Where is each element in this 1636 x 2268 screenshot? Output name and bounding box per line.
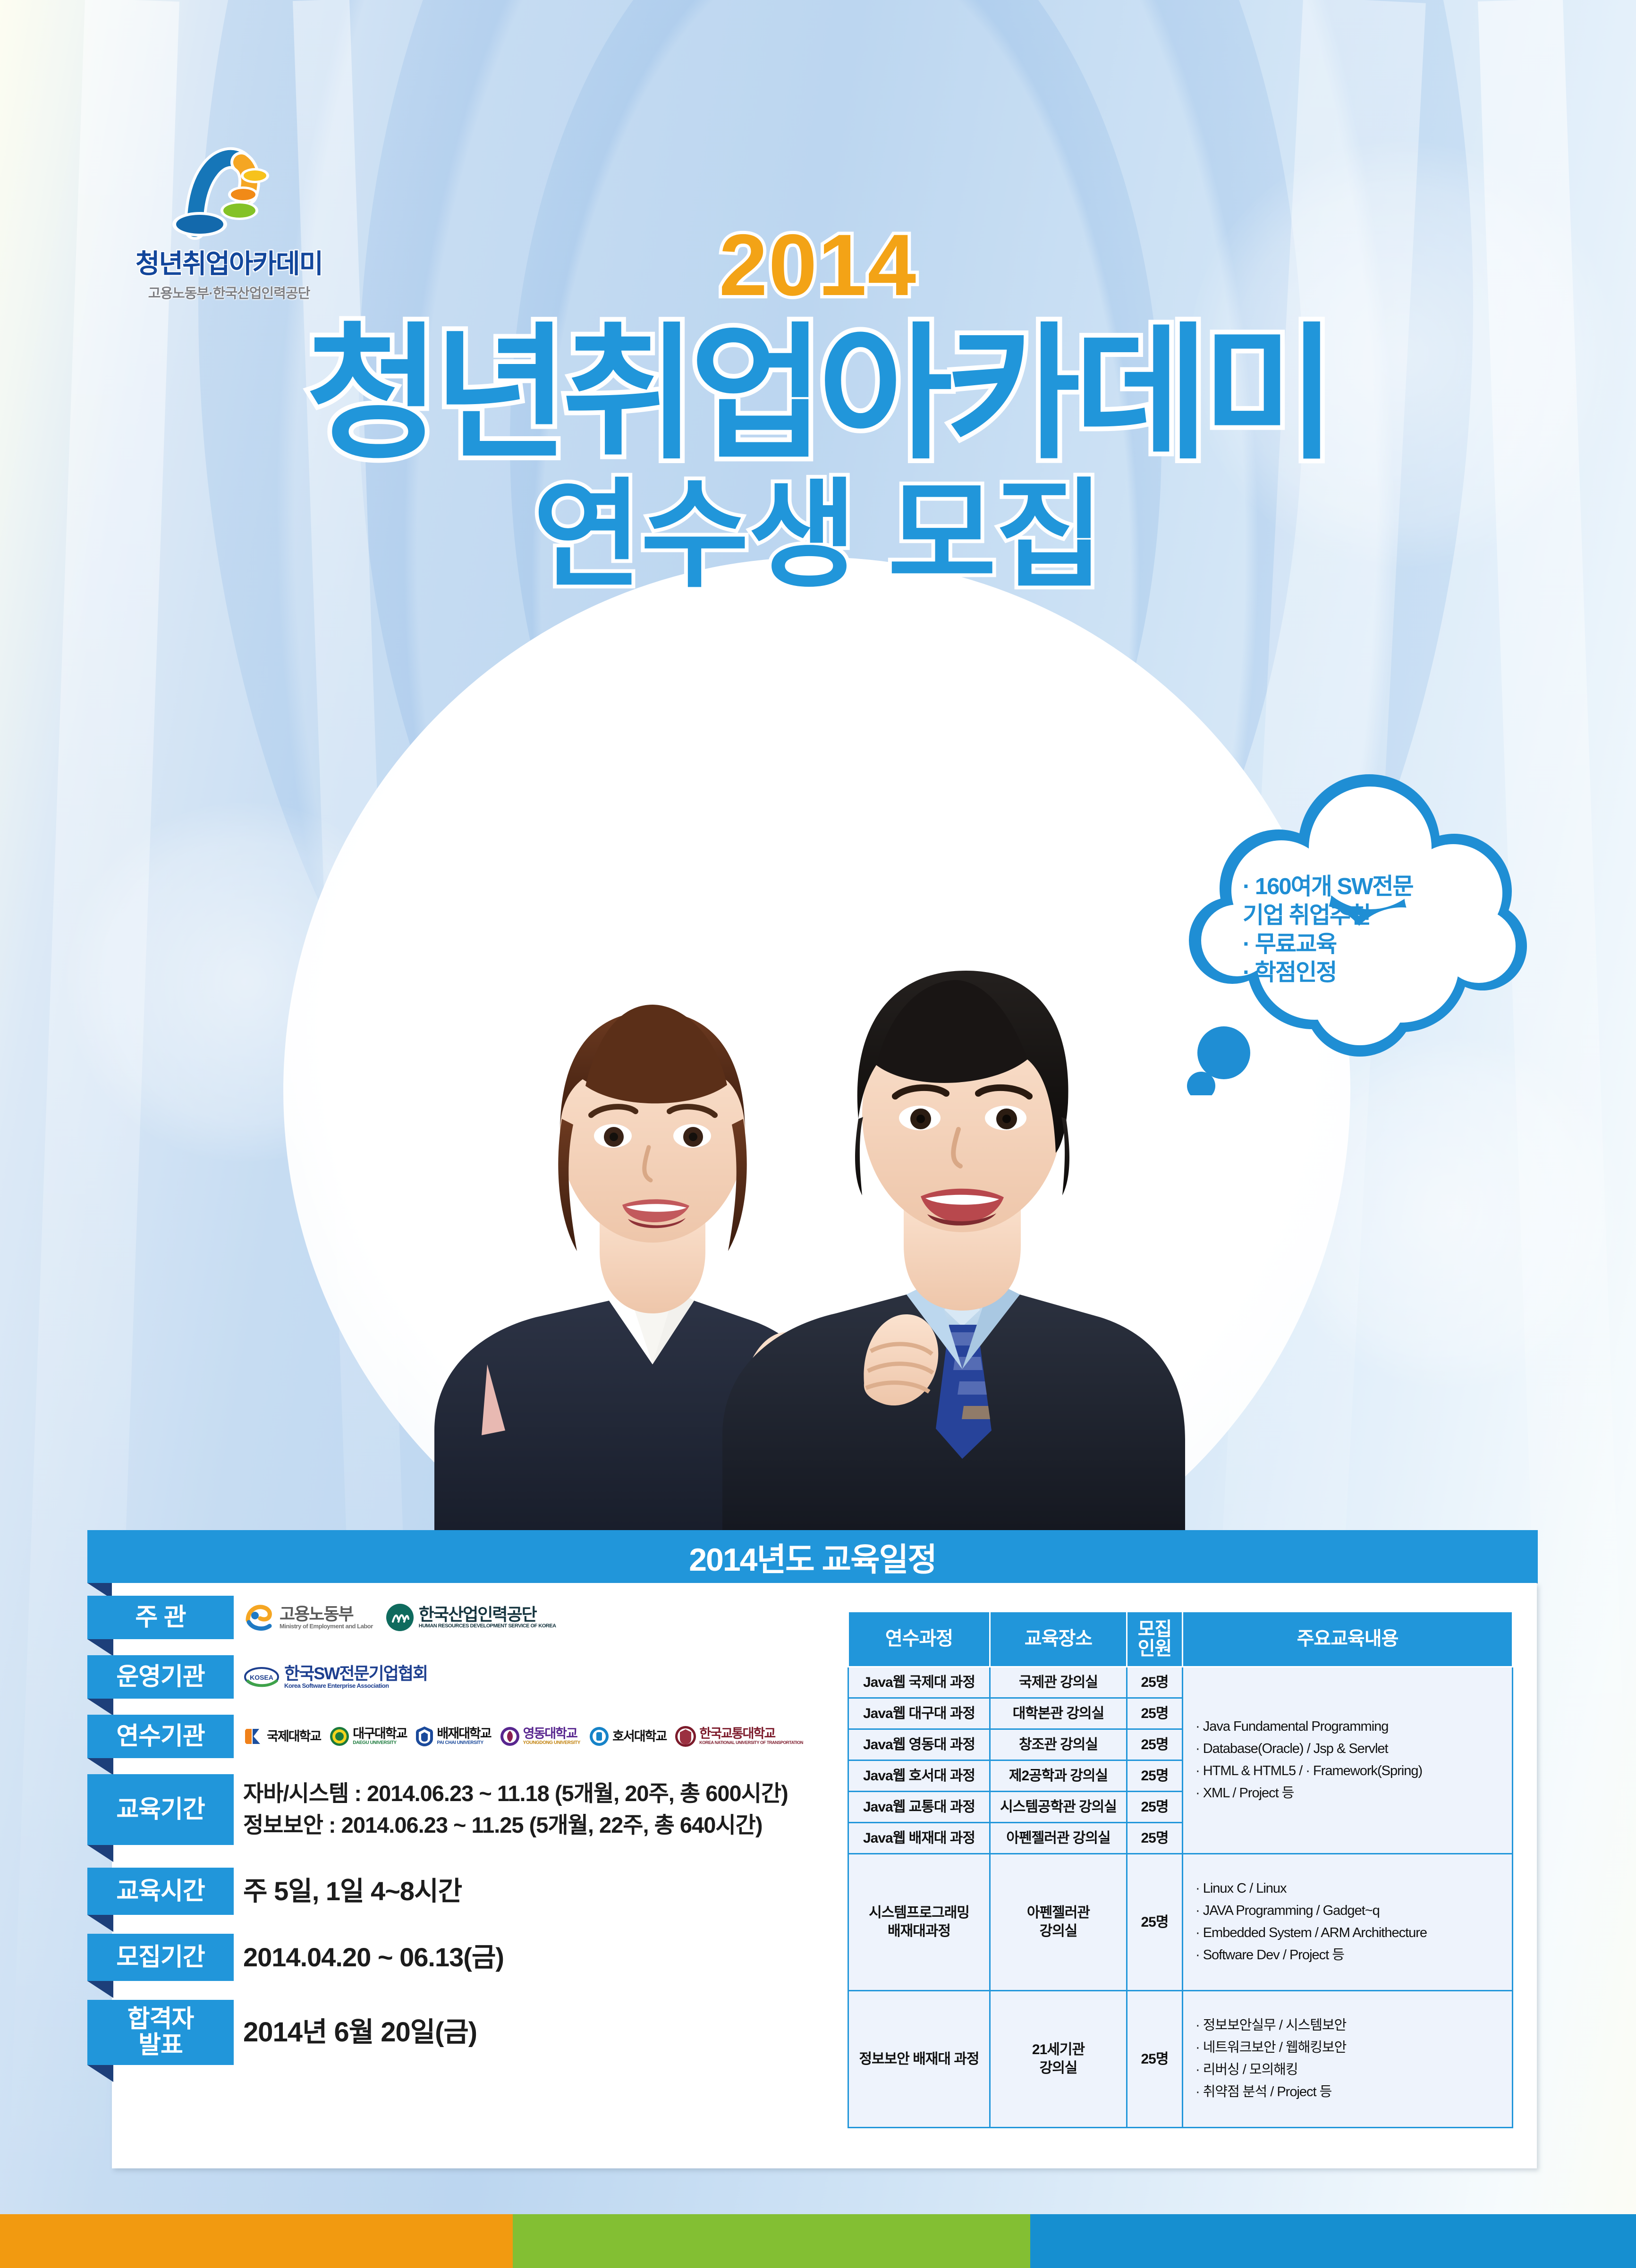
cell-quota: 25명 bbox=[1127, 1667, 1183, 1698]
cell-curriculum-system: · Linux C / Linux · JAVA Programming / G… bbox=[1183, 1853, 1513, 1990]
org-name-en: Korea Software Enterprise Association bbox=[284, 1683, 427, 1689]
academy-logo-subtitle: 고용노동부·한국산업인력공단 bbox=[106, 282, 352, 302]
kosea-icon: KOSEA bbox=[243, 1663, 280, 1691]
info-row-training-hours: 교육시간 주 5일, 1일 4~8시간 bbox=[87, 1868, 824, 1930]
tab-fold bbox=[87, 2065, 113, 2082]
cell-place-line2: 강의실 bbox=[993, 1922, 1123, 1940]
daegu-seal-icon bbox=[329, 1726, 350, 1747]
results-label-line2: 발표 bbox=[138, 2032, 183, 2058]
results-label-line1: 합격자 bbox=[127, 2006, 194, 2032]
col-header-curriculum: 주요교육내용 bbox=[1183, 1612, 1513, 1667]
cell-place: 시스템공학관 강의실 bbox=[990, 1791, 1127, 1822]
cell-course: Java웹 호서대 과정 bbox=[848, 1760, 990, 1791]
students-photo bbox=[364, 694, 1195, 1539]
footer-color-strip bbox=[0, 2214, 1636, 2268]
paichai-seal-icon bbox=[415, 1726, 434, 1747]
curriculum-line: · JAVA Programming / Gadget~q bbox=[1195, 1900, 1509, 1922]
org-name-en: Ministry of Employment and Labor bbox=[280, 1623, 373, 1629]
col-header-quota-line2: 인원 bbox=[1129, 1639, 1180, 1659]
info-label-application-period: 모집기간 bbox=[87, 1934, 234, 1981]
training-period-line: 자바/시스템 : 2014.06.23 ~ 11.18 (5개월, 20주, 총… bbox=[243, 1778, 788, 1810]
footer-strip-blue bbox=[1030, 2214, 1636, 2268]
university-name-ko: 영동대학교 bbox=[523, 1727, 580, 1740]
info-value-operator: KOSEA 한국SW전문기업협회 Korea Software Enterpri… bbox=[243, 1655, 824, 1699]
background-bokeh-circle bbox=[1190, 142, 1615, 567]
tab-fold bbox=[87, 1981, 113, 1998]
org-logo-molab: 고용노동부 Ministry of Employment and Labor bbox=[243, 1601, 373, 1633]
svg-text:KOSEA: KOSEA bbox=[250, 1674, 273, 1681]
cell-course: Java웹 국제대 과정 bbox=[848, 1667, 990, 1698]
university-name-ko: 국제대학교 bbox=[267, 1730, 321, 1743]
cell-place: 21세기관 강의실 bbox=[990, 1990, 1127, 2127]
university-logo-hoseo: 호서대학교 bbox=[589, 1726, 666, 1747]
university-name-en: YOUNGDONG UNIVERSITY bbox=[523, 1740, 580, 1746]
tab-fold bbox=[87, 1845, 113, 1862]
academy-logo-name: 청년취업아카데미 bbox=[106, 243, 352, 281]
tab-fold bbox=[87, 1758, 113, 1775]
info-value-training-institutions: 국제대학교 대구대학교 DAEGU UNIVERSITY bbox=[243, 1715, 824, 1758]
curriculum-line: · HTML & HTML5 / · Framework(Spring) bbox=[1195, 1760, 1509, 1782]
curriculum-line: · 리버싱 / 모의해킹 bbox=[1195, 2059, 1509, 2081]
cell-place: 창조관 강의실 bbox=[990, 1729, 1127, 1760]
university-name-en: PAI CHAI UNIVERSITY bbox=[437, 1740, 491, 1746]
transportation-seal-icon bbox=[675, 1726, 696, 1747]
application-period-value: 2014.04.20 ~ 06.13(금) bbox=[243, 1938, 504, 1976]
university-name-ko: 대구대학교 bbox=[353, 1727, 407, 1740]
cell-course: Java웹 대구대 과정 bbox=[848, 1698, 990, 1729]
tab-fold bbox=[87, 1699, 113, 1716]
cell-course: Java웹 배재대 과정 bbox=[848, 1822, 990, 1853]
cell-place: 대학본관 강의실 bbox=[990, 1698, 1127, 1729]
curriculum-line: · Software Dev / Project 등 bbox=[1195, 1944, 1509, 1966]
table-row: 정보보안 배재대 과정 21세기관 강의실 25명 · 정보보안실무 / 시스템… bbox=[848, 1990, 1513, 2127]
cell-place: 국제관 강의실 bbox=[990, 1667, 1127, 1698]
info-row-training-institutions: 연수기관 국제대학교 대구대학교 bbox=[87, 1715, 824, 1770]
info-label-host: 주 관 bbox=[87, 1596, 234, 1639]
cell-curriculum-java: · Java Fundamental Programming · Databas… bbox=[1183, 1667, 1513, 1853]
cell-course: Java웹 교통대 과정 bbox=[848, 1791, 990, 1822]
university-logo-youngdong: 영동대학교 YOUNGDONG UNIVERSITY bbox=[500, 1726, 580, 1747]
org-name-ko: 한국SW전문기업협회 bbox=[284, 1665, 427, 1683]
university-logo-kukje: 국제대학교 bbox=[243, 1726, 321, 1747]
schedule-banner-title: 2014년도 교육일정 bbox=[689, 1533, 936, 1580]
program-info-list: 주 관 고용노동부 Ministry of Employment and Lab… bbox=[87, 1596, 824, 2084]
curriculum-line: · Embedded System / ARM Archithecture bbox=[1195, 1922, 1509, 1944]
training-period-line: 정보보안 : 2014.06.23 ~ 11.25 (5개월, 22주, 총 6… bbox=[243, 1810, 788, 1841]
cell-place: 아펜젤러관 강의실 bbox=[990, 1853, 1127, 1990]
university-name-ko: 호서대학교 bbox=[612, 1730, 666, 1743]
cell-place: 제2공학과 강의실 bbox=[990, 1760, 1127, 1791]
org-logo-hrdkorea: 한국산업인력공단 HUMAN RESOURCES DEVELOPMENT SER… bbox=[385, 1603, 556, 1632]
curriculum-line: · Linux C / Linux bbox=[1195, 1878, 1509, 1900]
info-value-training-period: 자바/시스템 : 2014.06.23 ~ 11.18 (5개월, 20주, 총… bbox=[243, 1774, 824, 1845]
schedule-table: 연수과정 교육장소 모집 인원 주요교육내용 Java웹 국제대 과정 국제관 … bbox=[848, 1611, 1513, 2128]
org-logo-kosea: KOSEA 한국SW전문기업협회 Korea Software Enterpri… bbox=[243, 1663, 427, 1691]
hrdkorea-icon bbox=[385, 1603, 415, 1632]
kukje-seal-icon bbox=[243, 1726, 264, 1747]
cell-place-line1: 아펜젤러관 bbox=[993, 1904, 1123, 1922]
footer-strip-orange bbox=[0, 2214, 513, 2268]
benefits-thought-bubble: · 160여개 SW전문 기업 취업추천 · 무료교육 · 학점인정 bbox=[1171, 755, 1530, 1095]
benefit-item: · 무료교육 bbox=[1243, 930, 1446, 959]
university-name-ko: 한국교통대학교 bbox=[699, 1727, 803, 1740]
benefit-item-cont: 기업 취업추천 bbox=[1243, 901, 1446, 930]
academy-logo: 청년취업아카데미 고용노동부·한국산업인력공단 bbox=[106, 142, 352, 302]
info-value-application-period: 2014.04.20 ~ 06.13(금) bbox=[243, 1934, 824, 1981]
results-announcement-value: 2014년 6월 20일(금) bbox=[243, 2013, 477, 2052]
cell-course: Java웹 영동대 과정 bbox=[848, 1729, 990, 1760]
info-row-results-announcement: 합격자 발표 2014년 6월 20일(금) bbox=[87, 2000, 824, 2080]
table-row: Java웹 국제대 과정 국제관 강의실 25명 · Java Fundamen… bbox=[848, 1667, 1513, 1698]
info-label-training-period: 교육기간 bbox=[87, 1774, 234, 1845]
university-logo-transportation: 한국교통대학교 KOREA NATIONAL UNIVERSITY OF TRA… bbox=[675, 1726, 803, 1747]
col-header-quota-line1: 모집 bbox=[1129, 1620, 1180, 1639]
schedule-section-banner: 2014년도 교육일정 bbox=[87, 1530, 1538, 1583]
cell-place-line1: 21세기관 bbox=[993, 2040, 1123, 2059]
col-header-course: 연수과정 bbox=[848, 1612, 990, 1667]
col-header-place: 교육장소 bbox=[990, 1612, 1127, 1667]
cell-course: 정보보안 배재대 과정 bbox=[848, 1990, 990, 2127]
tab-fold bbox=[87, 1915, 113, 1932]
curriculum-line: · XML / Project 등 bbox=[1195, 1782, 1509, 1804]
molab-icon bbox=[243, 1601, 275, 1633]
university-name-en: DAEGU UNIVERSITY bbox=[353, 1740, 407, 1746]
cell-place: 아펜젤러관 강의실 bbox=[990, 1822, 1127, 1853]
cell-course-line2: 배재대과정 bbox=[852, 1922, 986, 1940]
cell-quota: 25명 bbox=[1127, 1698, 1183, 1729]
youngdong-seal-icon bbox=[500, 1726, 520, 1747]
info-row-operator: 운영기관 KOSEA 한국SW전문기업협회 Korea Software Ent… bbox=[87, 1655, 824, 1711]
university-name-ko: 배재대학교 bbox=[437, 1727, 491, 1740]
col-header-quota: 모집 인원 bbox=[1127, 1612, 1183, 1667]
curriculum-line: · Java Fundamental Programming bbox=[1195, 1716, 1509, 1738]
curriculum-line: · 네트워크보안 / 웹해킹보안 bbox=[1195, 2037, 1509, 2059]
cell-quota: 25명 bbox=[1127, 1990, 1183, 2127]
training-hours-value: 주 5일, 1일 4~8시간 bbox=[243, 1872, 462, 1910]
benefit-item: · 160여개 SW전문 bbox=[1243, 872, 1446, 901]
table-row: 시스템프로그래밍 배재대과정 아펜젤러관 강의실 25명 · Linux C /… bbox=[848, 1853, 1513, 1990]
academy-logo-icon bbox=[168, 142, 290, 241]
university-logo-paichai: 배재대학교 PAI CHAI UNIVERSITY bbox=[415, 1726, 491, 1747]
info-label-results-announcement: 합격자 발표 bbox=[87, 2000, 234, 2065]
schedule-table-wrapper: 연수과정 교육장소 모집 인원 주요교육내용 Java웹 국제대 과정 국제관 … bbox=[848, 1611, 1513, 2128]
cell-course: 시스템프로그래밍 배재대과정 bbox=[848, 1853, 990, 1990]
cell-quota: 25명 bbox=[1127, 1791, 1183, 1822]
info-value-host: 고용노동부 Ministry of Employment and Labor 한… bbox=[243, 1596, 824, 1639]
info-label-training-hours: 교육시간 bbox=[87, 1868, 234, 1915]
university-name-en: KOREA NATIONAL UNIVERSITY OF TRANSPORTAT… bbox=[699, 1740, 803, 1745]
cell-quota: 25명 bbox=[1127, 1729, 1183, 1760]
hoseo-seal-icon bbox=[589, 1726, 610, 1747]
cell-place-line2: 강의실 bbox=[993, 2059, 1123, 2077]
tab-fold bbox=[87, 1639, 113, 1656]
org-name-ko: 한국산업인력공단 bbox=[419, 1606, 556, 1624]
cell-course-line1: 시스템프로그래밍 bbox=[852, 1904, 986, 1922]
info-value-results-announcement: 2014년 6월 20일(금) bbox=[243, 2000, 824, 2065]
curriculum-line: · Database(Oracle) / Jsp & Servlet bbox=[1195, 1738, 1509, 1760]
curriculum-line: · 취약점 분석 / Project 등 bbox=[1195, 2081, 1509, 2103]
cell-quota: 25명 bbox=[1127, 1853, 1183, 1990]
info-label-operator: 운영기관 bbox=[87, 1655, 234, 1699]
info-label-training-institutions: 연수기관 bbox=[87, 1715, 234, 1758]
info-value-training-hours: 주 5일, 1일 4~8시간 bbox=[243, 1868, 824, 1915]
curriculum-line: · 정보보안실무 / 시스템보안 bbox=[1195, 2014, 1509, 2037]
cell-quota: 25명 bbox=[1127, 1822, 1183, 1853]
cell-curriculum-security: · 정보보안실무 / 시스템보안 · 네트워크보안 / 웹해킹보안 · 리버싱 … bbox=[1183, 1990, 1513, 2127]
info-row-application-period: 모집기간 2014.04.20 ~ 06.13(금) bbox=[87, 1934, 824, 1996]
org-name-ko: 고용노동부 bbox=[280, 1606, 373, 1623]
org-name-en: HUMAN RESOURCES DEVELOPMENT SERVICE OF K… bbox=[419, 1624, 556, 1629]
info-row-host: 주 관 고용노동부 Ministry of Employment and Lab… bbox=[87, 1596, 824, 1651]
footer-strip-green bbox=[513, 2214, 1030, 2268]
info-row-training-period: 교육기간 자바/시스템 : 2014.06.23 ~ 11.18 (5개월, 2… bbox=[87, 1774, 824, 1864]
benefits-list: · 160여개 SW전문 기업 취업추천 · 무료교육 · 학점인정 bbox=[1243, 872, 1446, 987]
cell-quota: 25명 bbox=[1127, 1760, 1183, 1791]
benefit-item: · 학점인정 bbox=[1243, 958, 1446, 987]
table-header-row: 연수과정 교육장소 모집 인원 주요교육내용 bbox=[848, 1612, 1513, 1667]
university-logo-daegu: 대구대학교 DAEGU UNIVERSITY bbox=[329, 1726, 407, 1747]
